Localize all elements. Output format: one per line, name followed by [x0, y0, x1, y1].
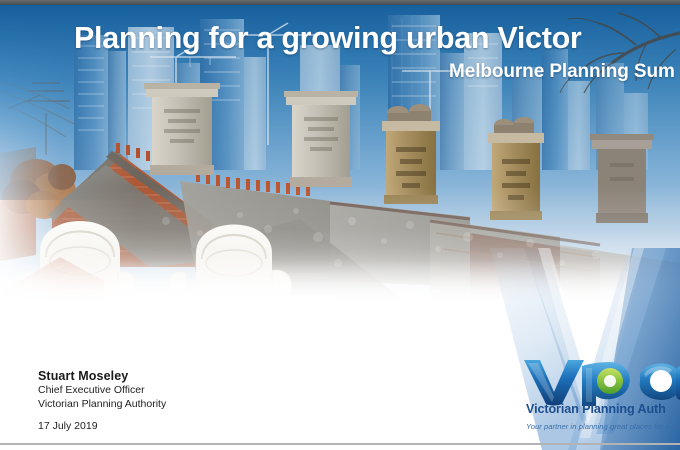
- presentation-title-slide: Planning for a growing urban Victor Melb…: [0, 0, 680, 450]
- victoria-government-logo: IA ment: [0, 372, 34, 402]
- page-title: Planning for a growing urban Victor: [74, 18, 680, 58]
- gov-logo-primary-text: IA: [0, 372, 34, 386]
- vpa-wordmark-icon: [518, 352, 680, 406]
- presenter-details: Stuart Moseley Chief Executive Officer V…: [38, 368, 166, 434]
- slide-title-container: Planning for a growing urban Victor: [0, 18, 680, 58]
- top-border-rule: [0, 0, 680, 5]
- vpa-tagline: Your partner in planning great places fo…: [526, 422, 680, 431]
- presentation-date: 17 July 2019: [38, 420, 166, 434]
- vpa-logo-block: Victorian Planning Auth Your partner in …: [518, 352, 680, 442]
- gov-logo-secondary-text: ment: [0, 389, 34, 397]
- bottom-border-rule: [0, 443, 680, 445]
- presenter-name: Stuart Moseley: [38, 368, 166, 384]
- slide-subtitle-container: Melbourne Planning Sum: [0, 60, 680, 84]
- presenter-organisation: Victorian Planning Authority: [38, 398, 166, 412]
- page-subtitle: Melbourne Planning Sum: [449, 60, 680, 84]
- vpa-organisation-name: Victorian Planning Auth: [526, 402, 666, 416]
- presenter-role: Chief Executive Officer: [38, 384, 166, 398]
